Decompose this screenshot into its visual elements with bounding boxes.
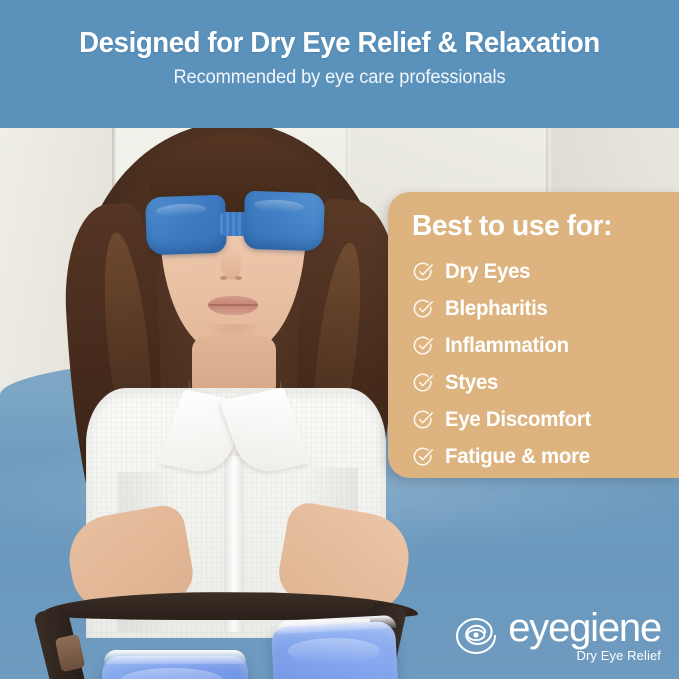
nostril xyxy=(235,276,242,280)
product-eye-mask xyxy=(24,588,444,679)
check-circle-icon xyxy=(412,335,434,357)
headline: Designed for Dry Eye Relief & Relaxation xyxy=(17,28,662,58)
spiral-eye-icon xyxy=(450,614,502,658)
brand-tagline: Dry Eye Relief xyxy=(577,648,661,663)
header-band: Designed for Dry Eye Relief & Relaxation… xyxy=(0,0,679,128)
list-item-label: Eye Discomfort xyxy=(445,408,591,432)
feature-list: Dry Eyes Blepharitis Inflammation xyxy=(412,253,679,475)
list-item: Styes xyxy=(412,364,679,401)
list-item: Eye Discomfort xyxy=(412,401,679,438)
feature-panel-title: Best to use for: xyxy=(412,210,671,243)
list-item-label: Blepharitis xyxy=(445,297,548,321)
list-item-label: Styes xyxy=(445,371,498,395)
list-item-label: Inflammation xyxy=(445,334,569,358)
list-item: Inflammation xyxy=(412,327,679,364)
product-marketing-image: Designed for Dry Eye Relief & Relaxation… xyxy=(0,0,679,679)
model-figure xyxy=(74,118,394,632)
check-circle-icon xyxy=(412,372,434,394)
check-circle-icon xyxy=(412,409,434,431)
worn-eye-mask xyxy=(146,190,324,256)
list-item: Dry Eyes xyxy=(412,253,679,290)
feature-panel: Best to use for: Dry Eyes Blepharitis xyxy=(388,192,679,478)
check-circle-icon xyxy=(412,446,434,468)
brand-logo: eyegiene Dry Eye Relief xyxy=(450,610,661,663)
subheadline: Recommended by eye care professionals xyxy=(14,67,666,89)
check-circle-icon xyxy=(412,261,434,283)
list-item: Fatigue & more xyxy=(412,438,679,475)
brand-name: eyegiene xyxy=(508,610,661,647)
list-item-label: Dry Eyes xyxy=(445,260,530,284)
lip-line xyxy=(208,304,258,306)
nostril xyxy=(220,276,227,280)
list-item: Blepharitis xyxy=(412,290,679,327)
logo-text: eyegiene Dry Eye Relief xyxy=(508,610,661,663)
check-circle-icon xyxy=(412,298,434,320)
list-item-label: Fatigue & more xyxy=(445,445,590,469)
product-pad-right-sheen xyxy=(288,638,380,664)
product-pad-left-rim xyxy=(104,650,246,664)
